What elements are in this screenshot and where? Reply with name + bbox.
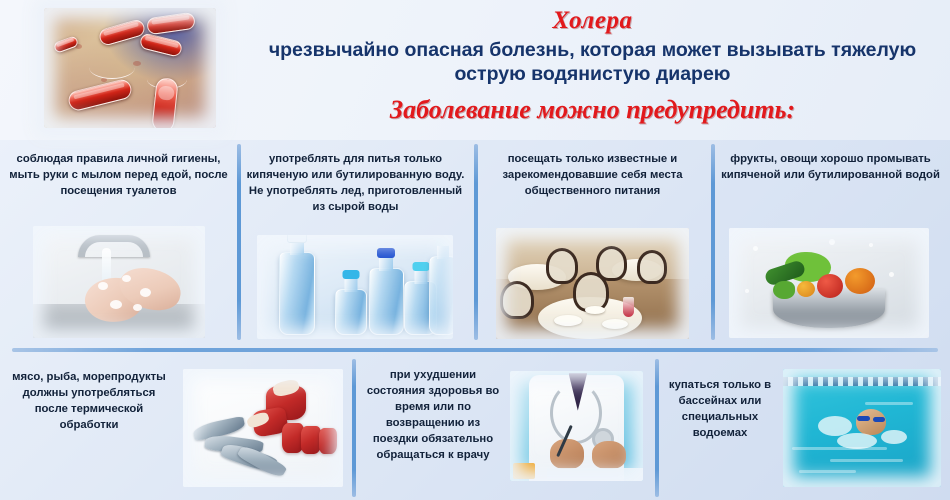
tip-panel-swimming: купаться только в бассейнах или специаль… (655, 355, 950, 500)
tip-text-hygiene: соблюдая правила личной гигиены, мыть ру… (0, 151, 237, 199)
raw-meat-and-fish-photo (183, 369, 343, 487)
prevention-row-bottom: мясо, рыба, морепродукты должны употребл… (0, 355, 950, 500)
tip-text-water: употреблять для питья только кипяченую и… (237, 151, 474, 215)
tip-text-produce: фрукты, овощи хорошо промывать кипяченой… (711, 151, 950, 183)
prevention-row-top: соблюдая правила личной гигиены, мыть ру… (0, 140, 950, 345)
tip-panel-doctor: при ухудшении состояния здоровья во врем… (352, 355, 655, 500)
vegetables-in-colander-photo (729, 228, 929, 338)
tip-panel-produce: фрукты, овощи хорошо промывать кипяченой… (711, 140, 950, 345)
poster-header: Холера чрезвычайно опасная болезнь, кото… (0, 0, 950, 140)
restaurant-interior-photo (496, 228, 689, 339)
tip-text-catering: посещать только известные и зарекомендов… (474, 151, 711, 199)
page-title: Холера (240, 6, 945, 36)
swimmer-in-pool-photo (783, 369, 941, 487)
tip-panel-catering: посещать только известные и зарекомендов… (474, 140, 711, 345)
tip-text-doctor: при ухудшении состояния здоровья во врем… (358, 367, 508, 463)
vibrio-cholerae-bacteria-illustration (44, 8, 216, 128)
tip-panel-hygiene: соблюдая правила личной гигиены, мыть ру… (0, 140, 237, 345)
row-divider (12, 348, 938, 352)
tip-panel-water: употреблять для питья только кипяченую и… (237, 140, 474, 345)
header-call-to-action: Заболевание можно предупредить: (240, 94, 945, 125)
bottled-water-photo (257, 235, 453, 339)
tip-panel-thermal: мясо, рыба, морепродукты должны употребл… (0, 355, 352, 500)
handwashing-photo (33, 226, 205, 338)
tip-text-swimming: купаться только в бассейнах или специаль… (659, 377, 781, 441)
header-subtitle: чрезвычайно опасная болезнь, которая мож… (240, 38, 945, 88)
cholera-prevention-poster: Холера чрезвычайно опасная болезнь, кото… (0, 0, 950, 500)
tip-text-thermal: мясо, рыба, морепродукты должны употребл… (4, 369, 174, 433)
doctor-writing-prescription-photo (510, 371, 643, 481)
